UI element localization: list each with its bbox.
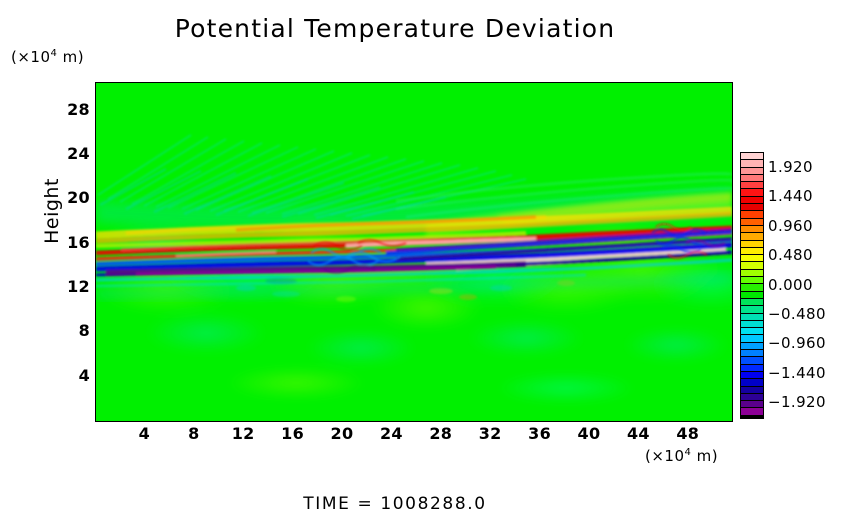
y-tick-label: 16 xyxy=(46,233,90,252)
y-unit-suffix: m) xyxy=(57,48,84,66)
colorbar-band xyxy=(741,204,763,211)
colorbar-tick-label: −1.920 xyxy=(768,393,826,411)
colorbar-band xyxy=(741,284,763,291)
colorbar-band xyxy=(741,233,763,240)
colorbar-tick-label: −0.480 xyxy=(768,305,826,323)
x-unit-suffix: m) xyxy=(691,447,718,465)
figure-canvas: Potential Temperature Deviation (×104 m)… xyxy=(0,0,854,519)
x-tick-label: 8 xyxy=(174,424,214,443)
colorbar-band xyxy=(741,357,763,364)
colorbar-band xyxy=(741,387,763,394)
colorbar-band xyxy=(741,241,763,248)
y-tick-label: 4 xyxy=(46,366,90,385)
colorbar-band xyxy=(741,321,763,328)
colorbar-band xyxy=(741,277,763,284)
y-tick-label: 12 xyxy=(46,277,90,296)
colorbar-tick-label: 0.480 xyxy=(768,246,813,264)
colorbar-band xyxy=(741,365,763,372)
x-tick-label: 44 xyxy=(618,424,658,443)
colorbar-tick-label: 1.440 xyxy=(768,187,813,205)
colorbar-band xyxy=(741,168,763,175)
colorbar-band xyxy=(741,379,763,386)
colorbar-band xyxy=(741,175,763,182)
y-tick-label: 20 xyxy=(46,188,90,207)
x-tick-label: 32 xyxy=(470,424,510,443)
colorbar-band xyxy=(741,372,763,379)
y-unit-prefix: (×10 xyxy=(11,48,51,66)
x-tick-label: 4 xyxy=(124,424,164,443)
colorbar-band xyxy=(741,189,763,196)
colorbar-band xyxy=(741,401,763,408)
colorbar-band xyxy=(741,335,763,342)
colorbar xyxy=(740,152,764,419)
time-annotation: TIME = 1008288.0 xyxy=(0,494,790,514)
heatmap-plot-area xyxy=(95,82,733,422)
colorbar-tick-label: 1.920 xyxy=(768,158,813,176)
colorbar-tick-label: −1.440 xyxy=(768,364,826,382)
x-unit-prefix: (×10 xyxy=(645,447,685,465)
colorbar-band xyxy=(741,226,763,233)
x-tick-label: 28 xyxy=(421,424,461,443)
y-tick-label: 24 xyxy=(46,144,90,163)
colorbar-band xyxy=(741,219,763,226)
colorbar-tick-labels: 1.9201.4400.9600.4800.000−0.480−0.960−1.… xyxy=(768,152,848,417)
colorbar-band xyxy=(741,211,763,218)
colorbar-band xyxy=(741,292,763,299)
colorbar-band xyxy=(741,314,763,321)
colorbar-band xyxy=(741,299,763,306)
colorbar-band xyxy=(741,160,763,167)
x-tick-label: 48 xyxy=(668,424,708,443)
colorbar-band xyxy=(741,306,763,313)
x-tick-label: 36 xyxy=(520,424,560,443)
colorbar-band xyxy=(741,350,763,357)
y-tick-label: 28 xyxy=(46,100,90,119)
y-axis-tick-labels: 481216202428 xyxy=(40,82,90,420)
temperature-deviation-field xyxy=(96,83,732,421)
x-tick-label: 16 xyxy=(273,424,313,443)
x-tick-label: 20 xyxy=(322,424,362,443)
colorbar-band xyxy=(741,153,763,160)
y-axis-unit-label: (×104 m) xyxy=(11,48,84,66)
colorbar-band xyxy=(741,343,763,350)
colorbar-tick-label: 0.960 xyxy=(768,217,813,235)
colorbar-band xyxy=(741,328,763,335)
x-tick-label: 24 xyxy=(371,424,411,443)
colorbar-band xyxy=(741,262,763,269)
colorbar-band xyxy=(741,182,763,189)
page-title: Potential Temperature Deviation xyxy=(0,14,790,43)
colorbar-tick-label: 0.000 xyxy=(768,276,813,294)
x-axis-unit-label: (×104 m) xyxy=(645,447,718,465)
colorbar-band xyxy=(741,394,763,401)
y-tick-label: 8 xyxy=(46,321,90,340)
colorbar-band xyxy=(741,270,763,277)
colorbar-tick-label: −0.960 xyxy=(768,334,826,352)
x-tick-label: 40 xyxy=(569,424,609,443)
colorbar-band xyxy=(741,255,763,262)
colorbar-band xyxy=(741,197,763,204)
colorbar-band xyxy=(741,248,763,255)
colorbar-band xyxy=(741,408,763,415)
x-tick-label: 12 xyxy=(223,424,263,443)
x-axis-tick-labels: 4812162024283236404448 xyxy=(95,424,731,448)
